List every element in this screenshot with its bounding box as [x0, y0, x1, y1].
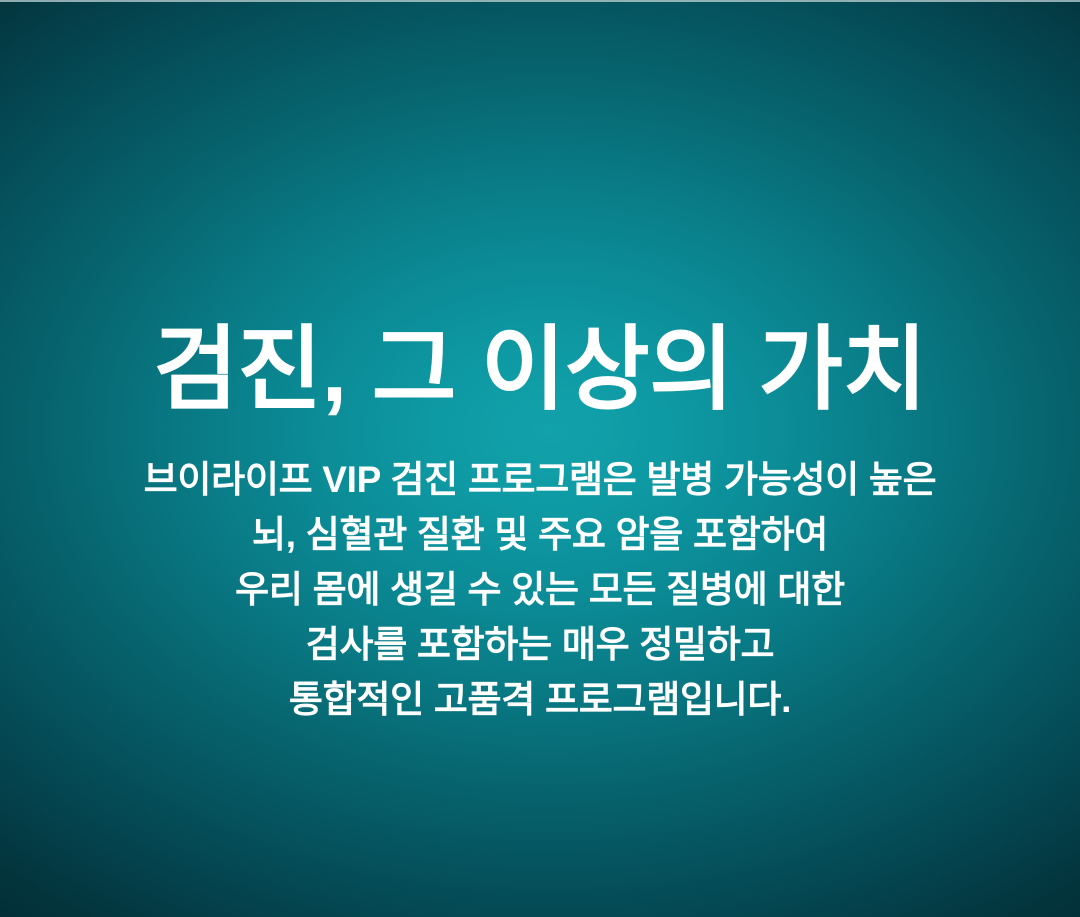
body-line: 브이라이프 VIP 검진 프로그램은 발병 가능성이 높은	[0, 452, 1080, 507]
body-line: 우리 몸에 생길 수 있는 모든 질병에 대한	[0, 562, 1080, 617]
slide-title: 검진, 그 이상의 가치	[0, 324, 1080, 416]
body-line: 통합적인 고품격 프로그램입니다.	[0, 672, 1080, 727]
slide-content: 검진, 그 이상의 가치 브이라이프 VIP 검진 프로그램은 발병 가능성이 …	[0, 0, 1080, 917]
slide-body-text: 브이라이프 VIP 검진 프로그램은 발병 가능성이 높은 뇌, 심혈관 질환 …	[0, 452, 1080, 727]
body-line: 뇌, 심혈관 질환 및 주요 암을 포함하여	[0, 507, 1080, 562]
body-line: 검사를 포함하는 매우 정밀하고	[0, 617, 1080, 672]
presentation-slide: 검진, 그 이상의 가치 브이라이프 VIP 검진 프로그램은 발병 가능성이 …	[0, 0, 1080, 917]
